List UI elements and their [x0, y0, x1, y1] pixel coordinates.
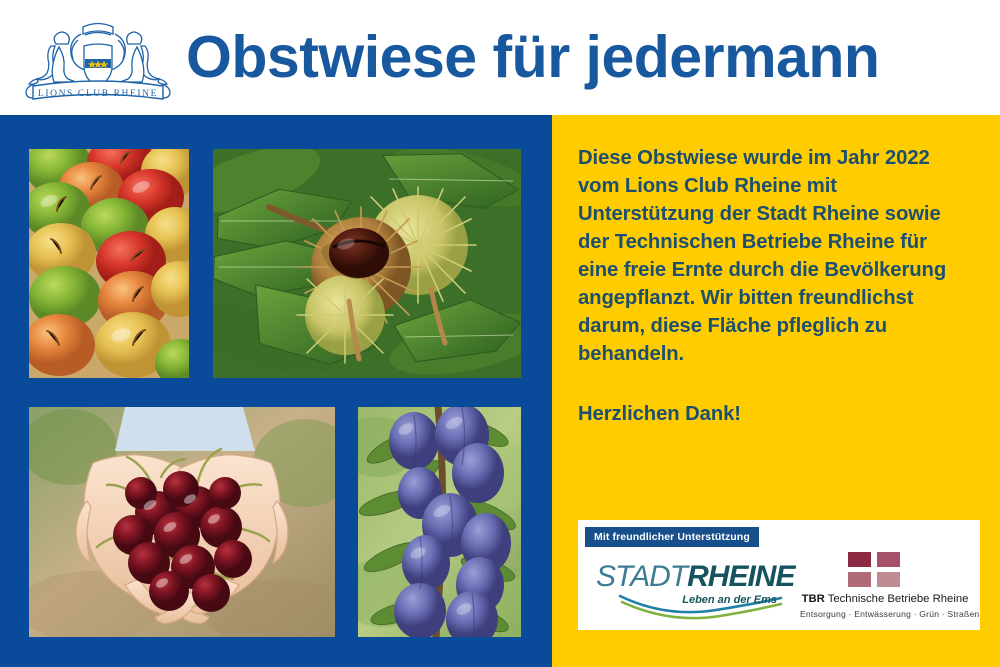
stadt-rheine-wordmark: STADTRHEINE — [596, 560, 794, 594]
sponsor-box: Mit freundlicher Unterstützung STADTRHEI… — [578, 520, 980, 630]
photo-panel — [0, 115, 552, 667]
lions-club-rheine-crest-icon: LIONS CLUB RHEINE — [23, 10, 173, 106]
header-bar: LIONS CLUB RHEINE Obstwiese für jederman… — [0, 0, 1000, 115]
sponsor-badge: Mit freundlicher Unterstützung — [585, 527, 759, 547]
tbr-square-top-right — [877, 552, 900, 567]
photo-apples — [29, 149, 189, 378]
stadt-rheine-logo: STADTRHEINE Leben an der Ems — [596, 556, 781, 622]
tbr-square-bottom-left — [848, 572, 871, 587]
photo-cherries — [29, 407, 335, 637]
tbr-subtitle: Entsorgung · Entwässerung · Grün · Straß… — [800, 609, 970, 619]
stadt-rheine-tagline: Leben an der Ems — [682, 594, 777, 606]
tbr-logo: TBR Technische Betriebe Rheine Entsorgun… — [800, 552, 970, 626]
crest-banner-text: LIONS CLUB RHEINE — [38, 89, 158, 99]
cherries-image — [29, 407, 335, 637]
stadt-word-dark: RHEINE — [687, 560, 794, 593]
lions-club-logo: LIONS CLUB RHEINE — [18, 8, 178, 108]
photo-chestnut — [213, 149, 521, 378]
tbr-squares-icon — [848, 552, 900, 588]
apples-image — [29, 149, 189, 378]
sponsor-logos: STADTRHEINE Leben an der Ems — [578, 550, 980, 630]
tbr-fullname: Technische Betriebe Rheine — [825, 593, 969, 605]
plums-image — [358, 407, 521, 637]
info-panel: Diese Obstwiese wurde im Jahr 2022 vom L… — [552, 115, 1000, 667]
thanks-text: Herzlichen Dank! — [578, 403, 741, 426]
stadt-word-light: STADT — [596, 560, 687, 593]
tbr-name: TBR Technische Betriebe Rheine — [800, 593, 970, 605]
page-title: Obstwiese für jedermann — [186, 28, 1000, 87]
poster-root: LIONS CLUB RHEINE Obstwiese für jederman… — [0, 0, 1000, 667]
photo-plums — [358, 407, 521, 637]
tbr-abbr: TBR — [802, 593, 825, 605]
chestnut-image — [213, 149, 521, 378]
tbr-square-top-left — [848, 552, 871, 567]
tbr-square-bottom-right — [877, 572, 900, 587]
info-body-text: Diese Obstwiese wurde im Jahr 2022 vom L… — [578, 144, 958, 368]
